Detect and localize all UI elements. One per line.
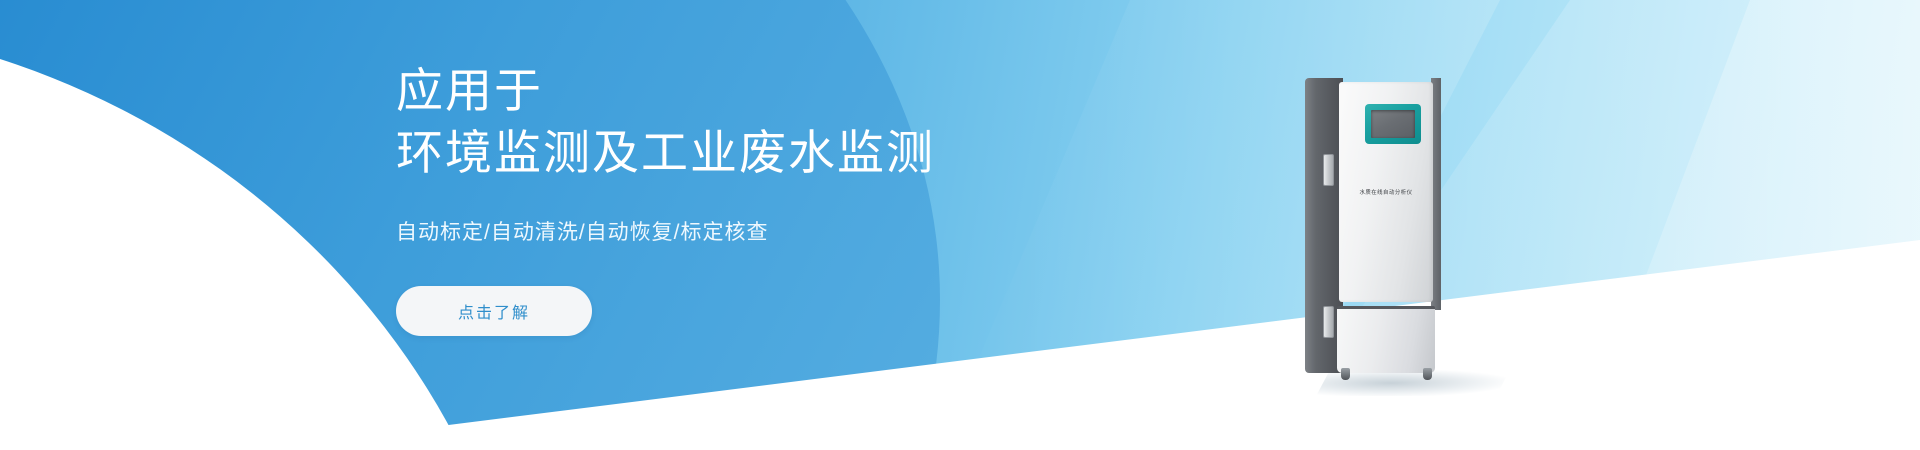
machine-caster-left xyxy=(1341,368,1350,380)
headline-line-1: 应用于 xyxy=(396,64,543,117)
machine-upper-door: 水质在线自动分析仪 xyxy=(1339,82,1433,302)
hero-banner: 应用于 环境监测及工业废水监测 自动标定/自动清洗/自动恢复/标定核查 点击了解… xyxy=(0,0,1920,450)
machine-label: 水质在线自动分析仪 xyxy=(1339,188,1433,196)
machine-screen-bezel xyxy=(1365,104,1421,144)
machine-lower-cabinet xyxy=(1337,306,1435,373)
banner-copy: 应用于 环境监测及工业废水监测 自动标定/自动清洗/自动恢复/标定核查 点击了解 xyxy=(396,60,1156,336)
machine-handle-lower xyxy=(1323,306,1334,338)
machine-display-screen xyxy=(1371,110,1415,138)
banner-subheadline: 自动标定/自动清洗/自动恢复/标定核查 xyxy=(396,218,1156,248)
machine-caster-right xyxy=(1423,368,1432,380)
learn-more-button[interactable]: 点击了解 xyxy=(396,286,592,336)
banner-headline: 应用于 环境监测及工业废水监测 xyxy=(396,60,1156,184)
headline-line-2: 环境监测及工业废水监测 xyxy=(396,122,1156,184)
machine-handle-upper xyxy=(1323,154,1334,186)
water-quality-analyzer: 水质在线自动分析仪 xyxy=(1305,78,1441,380)
